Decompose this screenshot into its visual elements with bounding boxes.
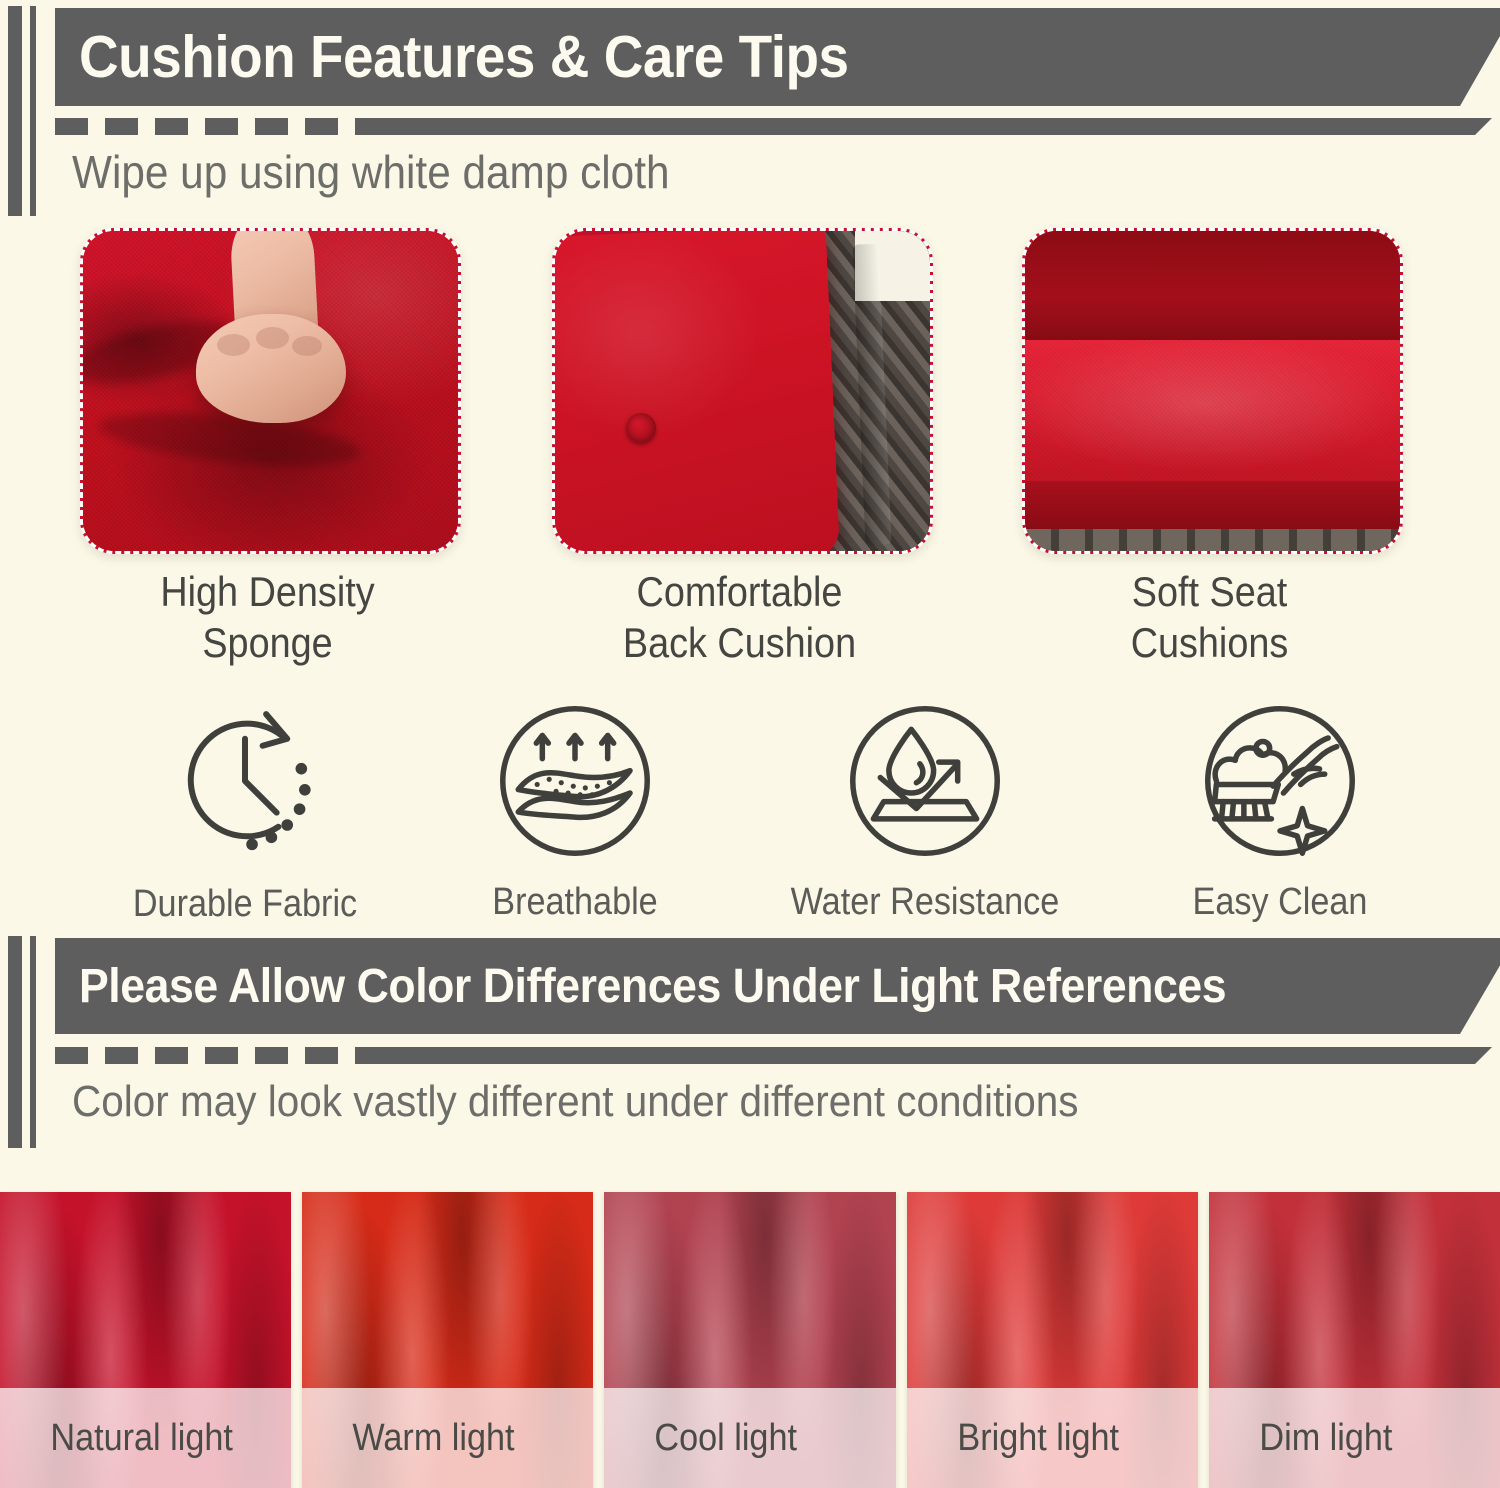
left-rail-thick [8, 6, 22, 216]
photo-row: High Density Sponge Comfortable Back Cus… [0, 228, 1500, 678]
color-banner-block: Please Allow Color Differences Under Lig… [0, 930, 1500, 1160]
swatch-label-bar: Bright light [907, 1388, 1198, 1488]
feature-label: Easy Clean [1145, 881, 1415, 924]
comfortable-back-cushion-photo [552, 228, 933, 554]
swatch-label: Dim light [1209, 1417, 1392, 1460]
care-dashed-rule [55, 118, 1492, 135]
swatch-label-bar: Cool light [604, 1388, 895, 1488]
infographic-page: Cushion Features & Care Tips Wipe up usi… [0, 0, 1500, 1488]
feature-water-resistance: Water Resistance [775, 695, 1075, 924]
swatch-bright-light: Bright light [907, 1192, 1198, 1488]
left-rail-thin [30, 6, 36, 216]
swatch-label: Natural light [0, 1417, 233, 1460]
swatch-cool-light: Cool light [604, 1192, 895, 1488]
photo-card-3: Soft Seat Cushions [1022, 228, 1397, 548]
swatch-label-bar: Dim light [1209, 1388, 1500, 1488]
swatch-natural-light: Natural light [0, 1192, 291, 1488]
left-rail-thin [30, 936, 36, 1148]
rattan-base [1025, 529, 1400, 551]
feature-label: Breathable [440, 881, 710, 924]
dash-seg [205, 118, 238, 135]
feature-label: Durable Fabric [110, 883, 380, 926]
dash-long-bar [355, 1047, 1492, 1064]
photo-card-2: Comfortable Back Cushion [552, 228, 927, 548]
dash-seg [155, 118, 188, 135]
soft-seat-cushions-photo [1022, 228, 1403, 554]
swatch-label: Warm light [302, 1417, 515, 1460]
care-banner: Cushion Features & Care Tips [55, 8, 1500, 106]
feature-durable-fabric: Durable Fabric [95, 693, 395, 926]
caption-line-2: Cushions [1041, 617, 1379, 668]
water-droplet-repel-icon [839, 695, 1011, 867]
dash-seg [255, 1047, 288, 1064]
photo-card-1: High Density Sponge [80, 228, 455, 548]
dash-seg [155, 1047, 188, 1064]
dash-seg [105, 118, 138, 135]
caption-line-1: High Density [99, 566, 437, 617]
dash-seg [105, 1047, 138, 1064]
care-banner-title: Cushion Features & Care Tips [79, 23, 849, 91]
dash-seg [205, 1047, 238, 1064]
feature-label: Water Resistance [790, 881, 1060, 924]
photo-caption-1: High Density Sponge [99, 566, 437, 668]
left-rail-thick [8, 936, 22, 1148]
caption-line-2: Back Cushion [571, 617, 909, 668]
dash-seg [255, 118, 288, 135]
cushion-skirt [1025, 481, 1400, 532]
dash-seg [305, 1047, 338, 1064]
photo-caption-3: Soft Seat Cushions [1041, 566, 1379, 668]
feature-breathable: Breathable [425, 695, 725, 924]
swatch-warm-light: Warm light [302, 1192, 593, 1488]
brush-sparkle-icon [1194, 695, 1366, 867]
back-cushion-shape [552, 228, 840, 554]
dash-seg [305, 118, 338, 135]
care-subhead: Wipe up using white damp cloth [72, 145, 670, 199]
color-banner-title: Please Allow Color Differences Under Lig… [79, 959, 1226, 1014]
feature-easy-clean: Easy Clean [1130, 695, 1430, 924]
swatch-label-bar: Warm light [302, 1388, 593, 1488]
breathable-fabric-arrows-icon [489, 695, 661, 867]
caption-line-1: Soft Seat [1041, 566, 1379, 617]
color-banner: Please Allow Color Differences Under Lig… [55, 938, 1500, 1034]
dash-seg [55, 1047, 88, 1064]
caption-line-2: Sponge [99, 617, 437, 668]
swatch-label-bar: Natural light [0, 1388, 291, 1488]
photo-caption-2: Comfortable Back Cushion [571, 566, 909, 668]
swatch-label: Cool light [604, 1417, 797, 1460]
back-cushion-band [1025, 231, 1400, 353]
feature-icon-row: Durable Fabric [0, 693, 1500, 925]
color-swatch-row: Natural light Warm light Cool light Brig… [0, 1192, 1500, 1488]
color-dashed-rule [55, 1047, 1492, 1064]
dash-long-bar [355, 118, 1492, 135]
swatch-label: Bright light [907, 1417, 1119, 1460]
dash-seg [55, 118, 88, 135]
swatch-dim-light: Dim light [1209, 1192, 1500, 1488]
clock-arrow-icon [157, 693, 333, 869]
fist-shape [196, 314, 346, 423]
caption-line-1: Comfortable [571, 566, 909, 617]
color-subhead: Color may look vastly different under di… [72, 1077, 1079, 1127]
high-density-sponge-photo [80, 228, 461, 554]
